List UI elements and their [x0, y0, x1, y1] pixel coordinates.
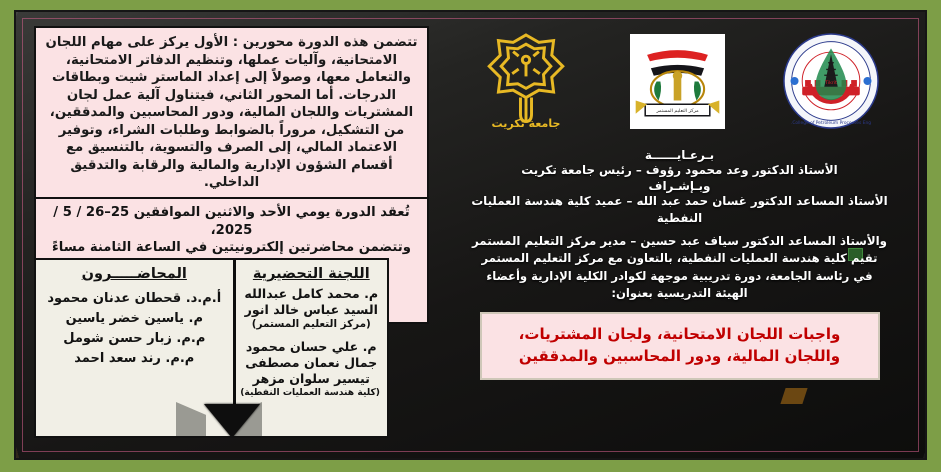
poster-root: تتضمن هذه الدورة محورين : الأول يركز على… — [0, 0, 941, 472]
prep-member-affiliation: (كلية هندسة العمليات النفطية) — [243, 387, 380, 399]
supervisor-dean: الأستاذ المساعد الدكتور غسان حمد عبد الل… — [448, 193, 911, 227]
tikrit-university-logo: جامعة تكريت — [480, 31, 572, 135]
college-of-petroleum-processes-engineering-logo: Tikrit College of Petroleum Processes En… — [783, 33, 879, 133]
svg-text:Tikrit: Tikrit — [824, 80, 837, 86]
organizer-line-3: الهيئة التدريسية بعنوان: — [448, 285, 911, 302]
svg-text:مركز التعليم المستمر: مركز التعليم المستمر — [655, 107, 699, 113]
course-title-line-1: واجبات اللجان الامتحانية، ولجان المشتريا… — [490, 323, 870, 346]
course-title-card: واجبات اللجان الامتحانية، ولجان المشتريا… — [480, 312, 880, 380]
supervisor-center-director: والأستاذ المساعد الدكتور سياف عبد حسين –… — [448, 233, 911, 250]
lecturer-name: م. ياسين خضر ياسين — [43, 312, 226, 325]
patronage-label: بـرعـايــــــة — [448, 148, 911, 162]
svg-text:College of Petroleum Processes: College of Petroleum Processes Eng. — [791, 120, 871, 126]
poster-board: تتضمن هذه الدورة محورين : الأول يركز على… — [14, 10, 927, 460]
spacer — [243, 332, 380, 339]
prep-member: م. محمد كامل عبدالله — [243, 286, 380, 302]
lecturers-title: المحاضـــــرون — [43, 266, 226, 282]
organizer-line-2: في رئاسة الجامعة، دورة تدريبية موجهة لكو… — [448, 268, 911, 285]
schedule-line-1: تُعقد الدورة يومي الأحد والاثنين الموافق… — [53, 205, 409, 238]
lecturer-name: أ.م.د. قحطان عدنان محمود — [43, 292, 226, 305]
prep-member: تيسير سلوان مزهر — [243, 371, 380, 387]
committees-panel: اللجنة التحضيرية م. محمد كامل عبدالله ال… — [34, 258, 389, 438]
svg-text:جامعة تكريت: جامعة تكريت — [492, 117, 561, 130]
ribbon-center — [204, 404, 260, 438]
content-layer: تتضمن هذه الدورة محورين : الأول يركز على… — [16, 12, 925, 458]
prep-member: م. علي حسان محمود — [243, 339, 380, 355]
prep-member: السيد عباس خالد انور — [243, 302, 380, 318]
course-description-card: تتضمن هذه الدورة محورين : الأول يركز على… — [34, 26, 429, 199]
prep-member-affiliation: (مركز التعليم المستمر) — [243, 318, 380, 331]
patron-name: الأستاذ الدكتور وعد محمود رؤوف – رئيس جا… — [448, 162, 911, 179]
course-description-text: تتضمن هذه الدورة محورين : الأول يركز على… — [36, 28, 427, 197]
preparatory-committee-title: اللجنة التحضيرية — [243, 266, 380, 282]
continuing-education-center-logo: مركز التعليم المستمر — [630, 34, 725, 133]
logo-row: Tikrit College of Petroleum Processes En… — [448, 24, 911, 142]
right-column: Tikrit College of Petroleum Processes En… — [448, 24, 911, 380]
prep-member: جمال نعمان مصطفى — [243, 355, 380, 371]
lecturer-name: م.م. زبار حسن شومل — [43, 332, 226, 345]
course-title-line-2: واللجان المالية، ودور المحاسبين والمدققي… — [490, 345, 870, 368]
supervision-label: وبـإشـراف — [448, 179, 911, 193]
sponsorship-block: بـرعـايــــــة الأستاذ الدكتور وعد محمود… — [448, 148, 911, 303]
organizer-line-1: تقيم كلية هندسة العمليات النفطية، بالتعا… — [448, 250, 911, 267]
lecturer-name: م.م. رند سعد احمد — [43, 352, 226, 365]
